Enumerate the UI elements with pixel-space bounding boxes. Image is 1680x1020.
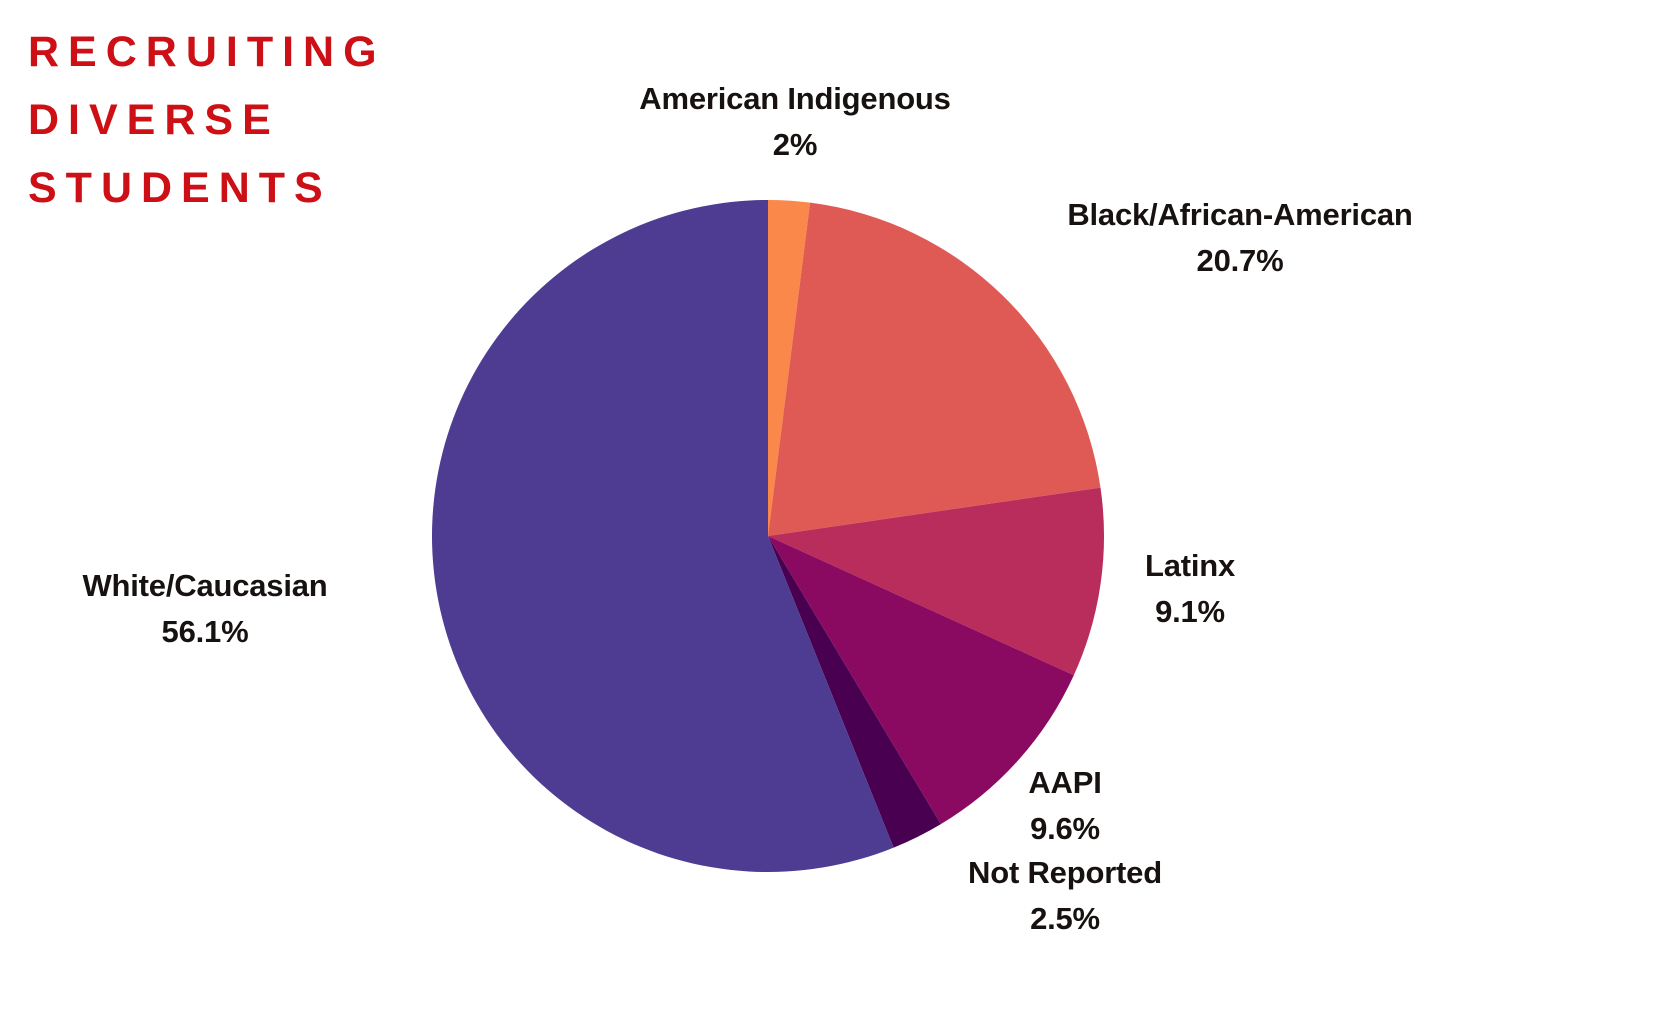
slice-label-name: AAPI (930, 760, 1200, 806)
slice-label-name: Black/African-American (990, 192, 1490, 238)
pie-slice-american-indigenous[interactable] (768, 200, 810, 536)
pie-slice-not-reported[interactable] (768, 536, 941, 848)
page-title: RECRUITING DIVERSE STUDENTS (28, 18, 458, 222)
title-line-1: RECRUITING (28, 18, 458, 86)
slice-label-value: 20.7% (990, 238, 1490, 284)
title-line-3: STUDENTS (28, 154, 458, 222)
slice-label-value: 9.1% (1030, 589, 1350, 635)
slice-label-value: 9.6% (930, 806, 1200, 852)
chart-canvas: RECRUITING DIVERSE STUDENTS American Ind… (0, 0, 1680, 1020)
slice-label-name: White/Caucasian (30, 563, 380, 609)
slice-label-value: 56.1% (30, 609, 380, 655)
slice-label-value: 2.5% (880, 896, 1250, 942)
slice-label-aapi: AAPI 9.6% (930, 760, 1200, 852)
slice-label-name: Not Reported (880, 850, 1250, 896)
slice-label-american-indigenous: American Indigenous 2% (550, 76, 1040, 168)
title-line-2: DIVERSE (28, 86, 458, 154)
slice-label-not-reported: Not Reported 2.5% (880, 850, 1250, 942)
slice-label-black-african-american: Black/African-American 20.7% (990, 192, 1490, 284)
slice-label-name: Latinx (1030, 543, 1350, 589)
slice-label-latinx: Latinx 9.1% (1030, 543, 1350, 635)
slice-label-name: American Indigenous (550, 76, 1040, 122)
pie-slice-white-caucasian[interactable] (432, 200, 894, 872)
slice-label-white-caucasian: White/Caucasian 56.1% (30, 563, 380, 655)
slice-label-value: 2% (550, 122, 1040, 168)
